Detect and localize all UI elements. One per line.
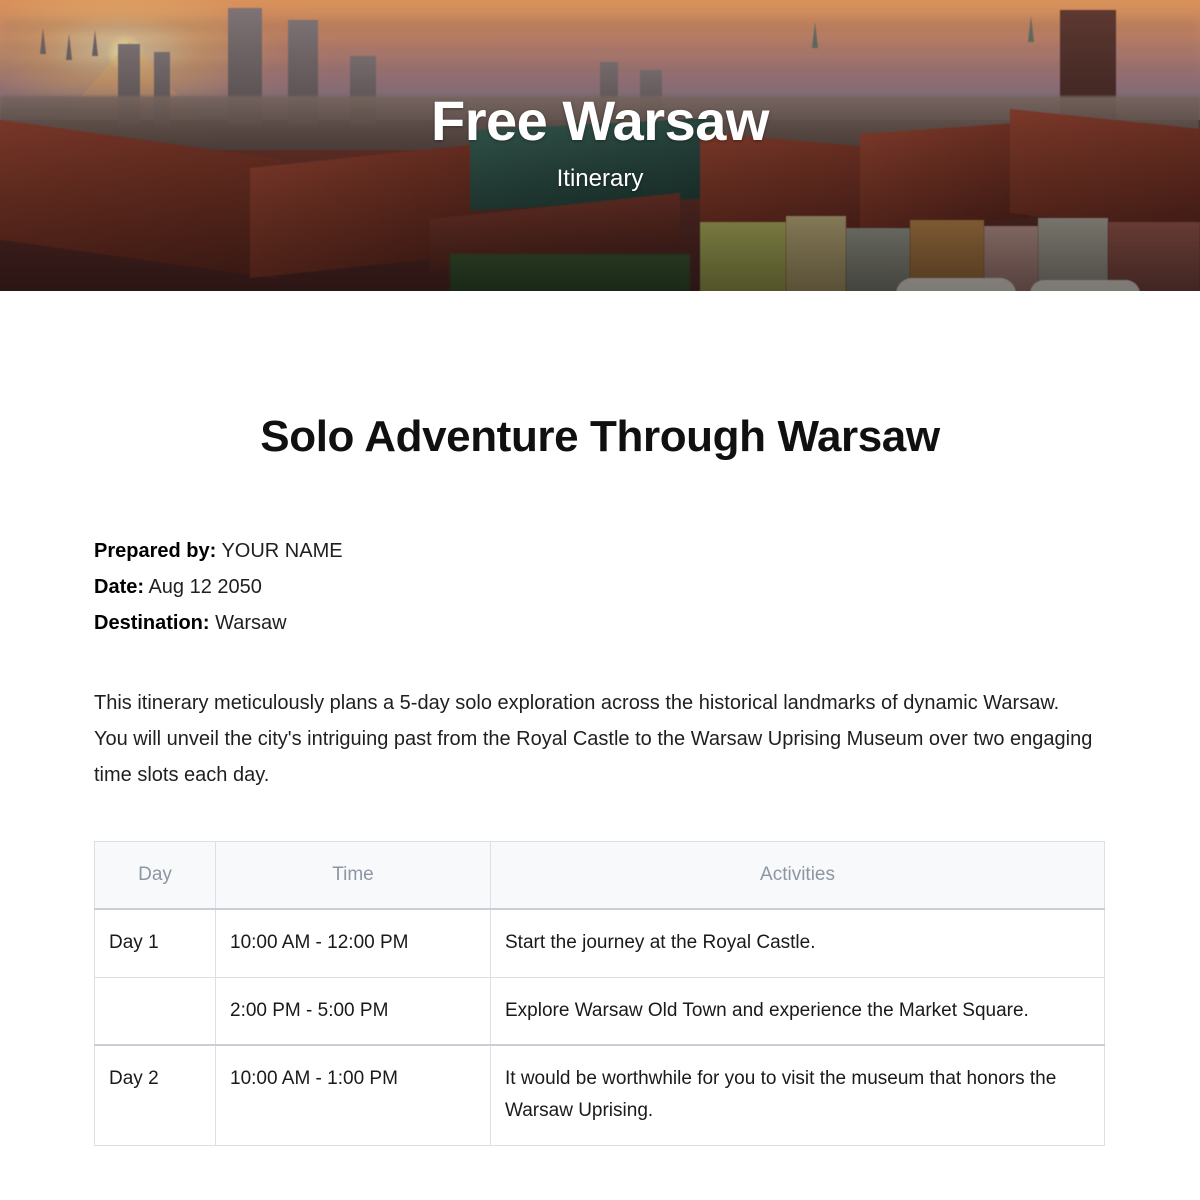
table-row: Day 2 10:00 AM - 1:00 PM It would be wor… [95, 1045, 1105, 1145]
cell-time: 10:00 AM - 12:00 PM [216, 909, 491, 977]
meta-prepared-by-label: Prepared by: [94, 540, 216, 562]
metadata-block: Prepared by: YOUR NAME Date: Aug 12 2050… [94, 533, 1106, 641]
itinerary-table-wrapper: Day Time Activities Day 1 10:00 AM - 12:… [94, 841, 1106, 1145]
meta-date-value: Aug 12 2050 [148, 576, 261, 598]
cell-activity: Explore Warsaw Old Town and experience t… [491, 977, 1105, 1045]
meta-destination-label: Destination: [94, 612, 210, 634]
document-body: Solo Adventure Through Warsaw Prepared b… [0, 291, 1200, 1146]
column-header-activities: Activities [491, 842, 1105, 910]
meta-destination: Destination: Warsaw [94, 605, 1106, 641]
hero-banner: Free Warsaw Itinerary [0, 0, 1200, 291]
table-row: Day 1 10:00 AM - 12:00 PM Start the jour… [95, 909, 1105, 977]
meta-date-label: Date: [94, 576, 144, 598]
meta-prepared-by: Prepared by: YOUR NAME [94, 533, 1106, 569]
hero-subtitle: Itinerary [0, 165, 1200, 194]
table-header-row: Day Time Activities [95, 842, 1105, 910]
cell-activity: It would be worthwhile for you to visit … [491, 1045, 1105, 1145]
cell-time: 2:00 PM - 5:00 PM [216, 977, 491, 1045]
cell-day [95, 977, 216, 1045]
meta-destination-value: Warsaw [215, 612, 286, 634]
intro-paragraph: This itinerary meticulously plans a 5-da… [94, 685, 1094, 793]
cell-day: Day 2 [95, 1045, 216, 1145]
cell-day: Day 1 [95, 909, 216, 977]
cell-activity: Start the journey at the Royal Castle. [491, 909, 1105, 977]
table-row: 2:00 PM - 5:00 PM Explore Warsaw Old Tow… [95, 977, 1105, 1045]
itinerary-table: Day Time Activities Day 1 10:00 AM - 12:… [94, 841, 1105, 1145]
column-header-time: Time [216, 842, 491, 910]
hero-title: Free Warsaw [0, 92, 1200, 151]
itinerary-table-body: Day 1 10:00 AM - 12:00 PM Start the jour… [95, 909, 1105, 1145]
page-title: Solo Adventure Through Warsaw [94, 291, 1106, 461]
meta-prepared-by-value: YOUR NAME [221, 540, 342, 562]
cell-time: 10:00 AM - 1:00 PM [216, 1045, 491, 1145]
column-header-day: Day [95, 842, 216, 910]
meta-date: Date: Aug 12 2050 [94, 569, 1106, 605]
hero-text-block: Free Warsaw Itinerary [0, 92, 1200, 194]
